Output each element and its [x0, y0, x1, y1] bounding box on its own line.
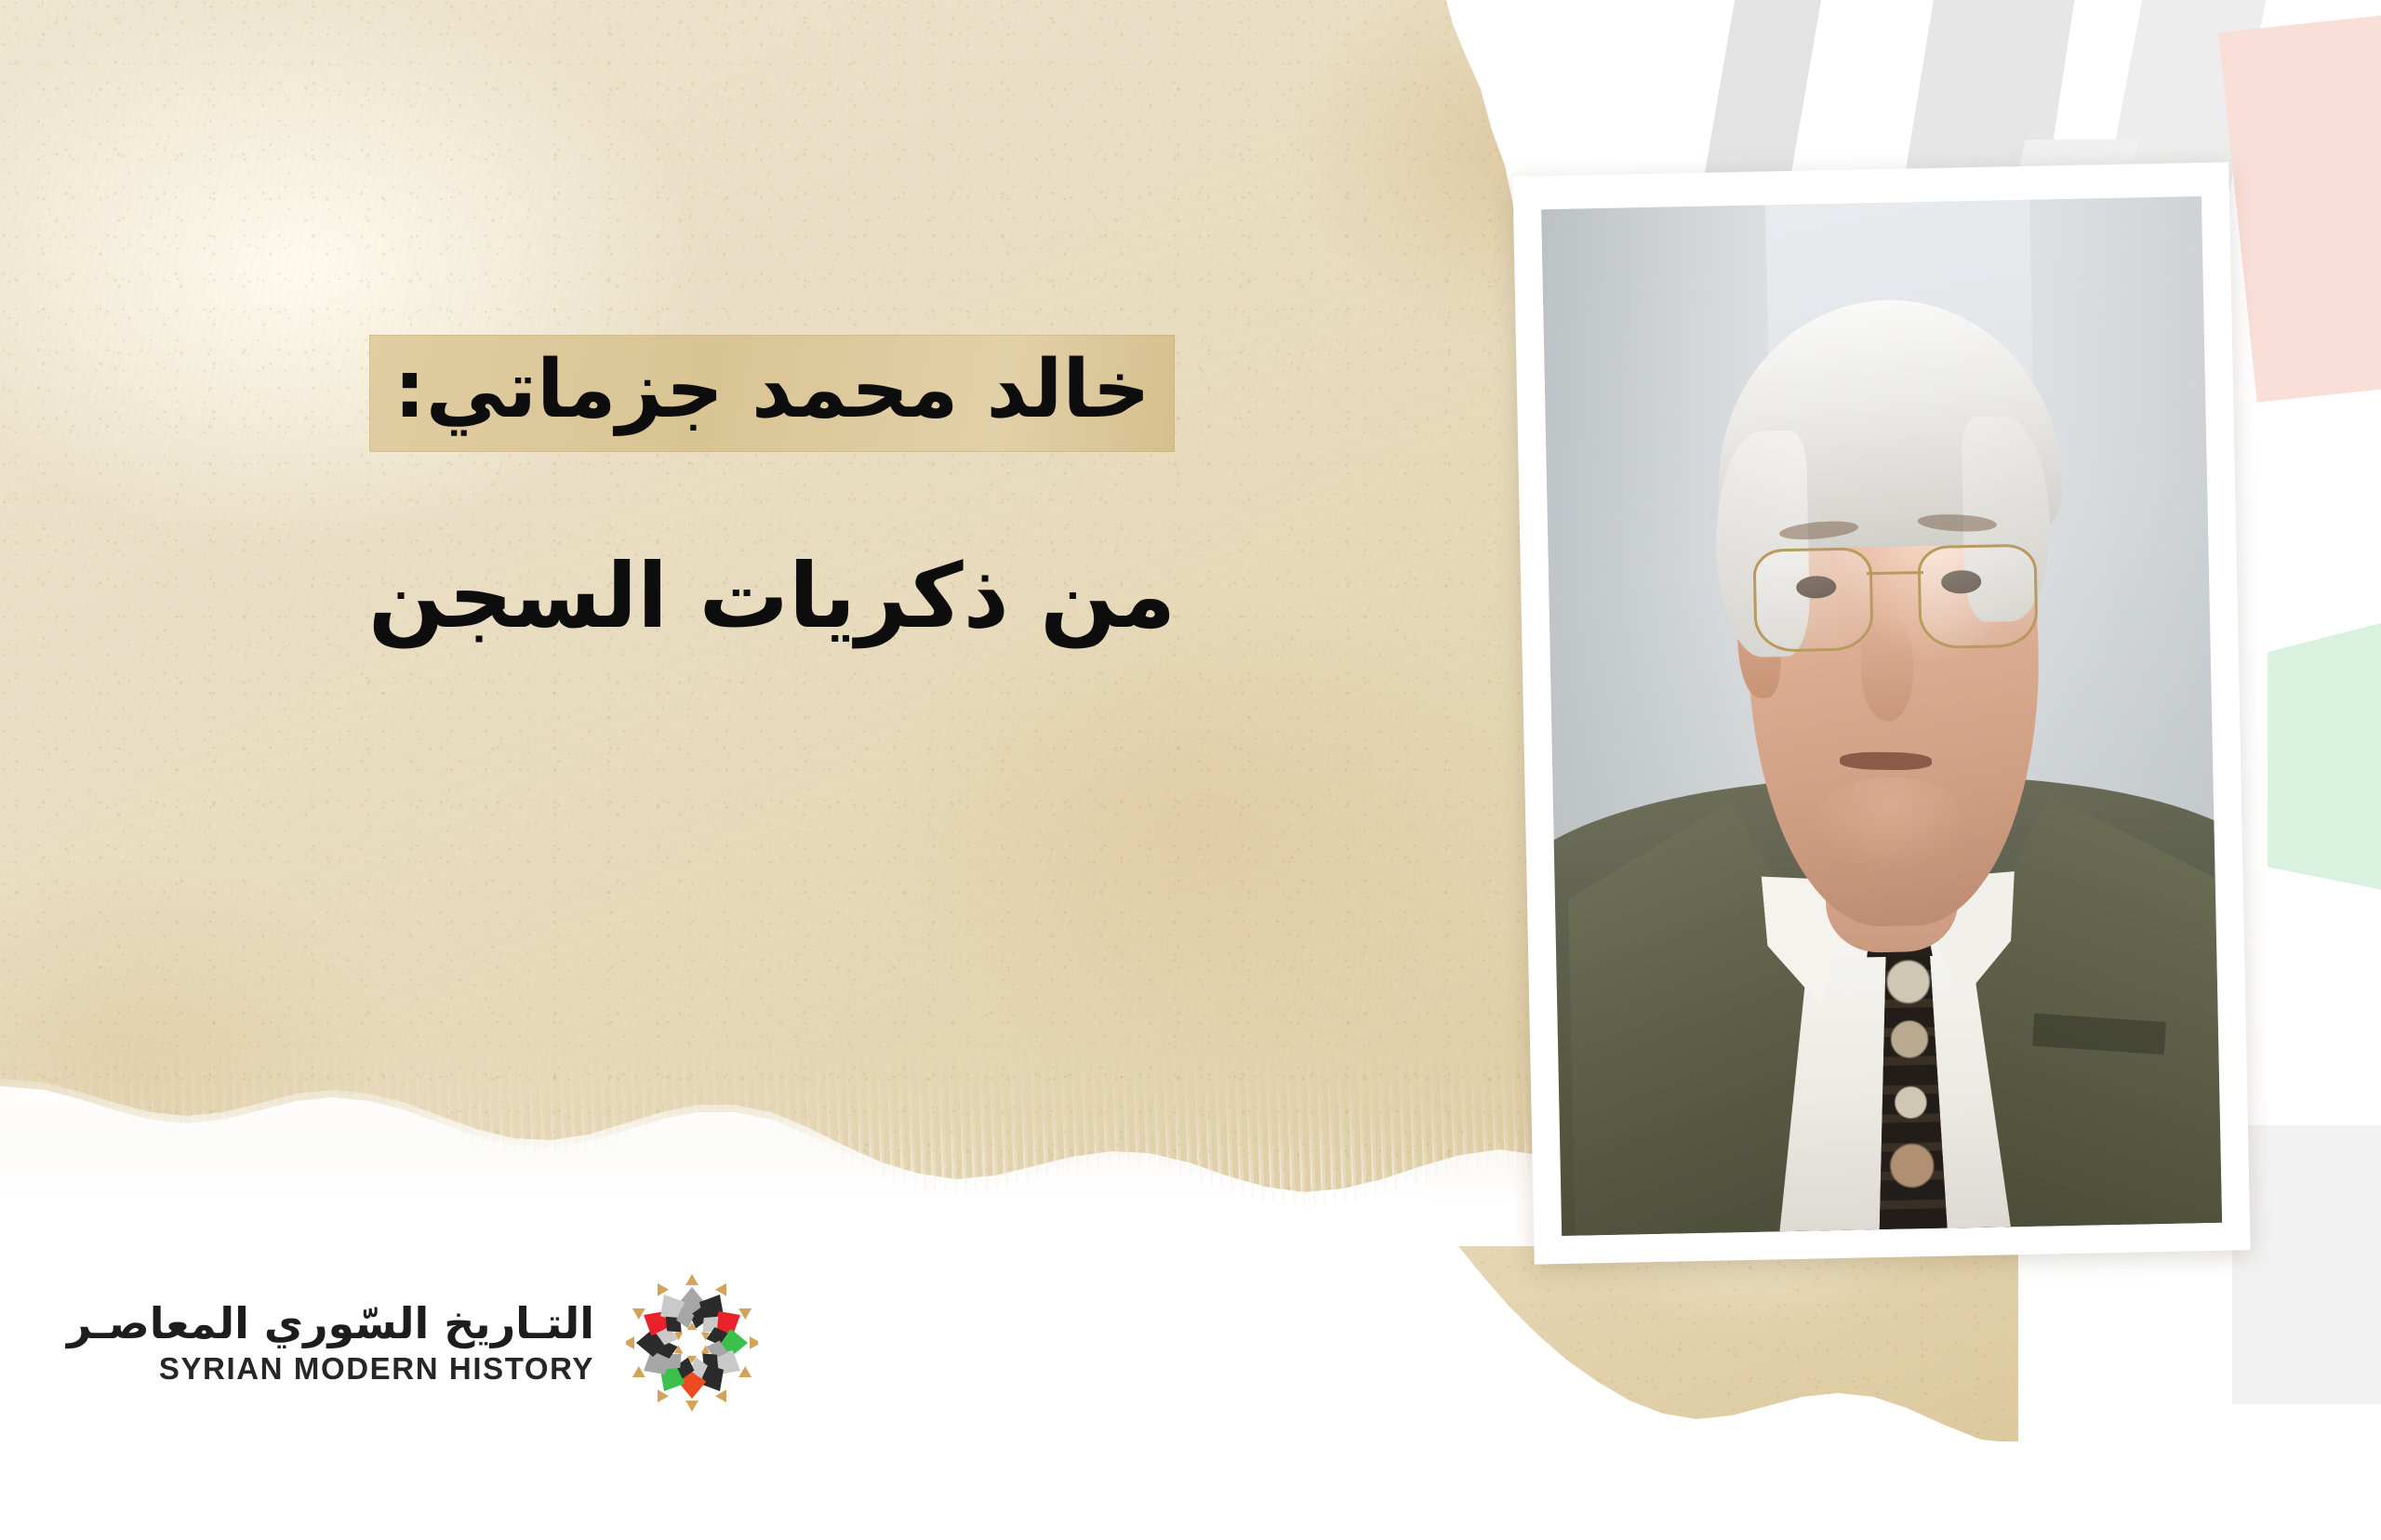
page-title: من ذكريات السجن [307, 549, 1237, 645]
portrait-photo [1541, 196, 2222, 1236]
eyeglasses-lens-left [1753, 547, 1874, 652]
portrait-frame [1512, 162, 2250, 1264]
brand-lockup[interactable]: التـاريخ السّوري المعاصـر SYRIAN MODERN … [67, 1268, 758, 1417]
eyeglasses-bridge [1867, 571, 1923, 575]
subject-name-highlight: خالد محمد جزماتي: [369, 335, 1174, 452]
brand-name-english: SYRIAN MODERN HISTORY [159, 1352, 594, 1386]
poster-canvas: خالد محمد جزماتي: من ذكريات السجن [0, 0, 2381, 1540]
brand-name-arabic: التـاريخ السّوري المعاصـر [67, 1300, 594, 1347]
headline-block: خالد محمد جزماتي: من ذكريات السجن [307, 335, 1237, 645]
photo-nose [1860, 617, 1915, 722]
photo-mouth [1840, 751, 1933, 770]
decor-gray-block [2232, 1125, 2381, 1404]
decor-pink-rectangle [2218, 9, 2381, 403]
rosette-logo-icon [626, 1268, 758, 1417]
brand-wordmark: التـاريخ السّوري المعاصـر SYRIAN MODERN … [67, 1300, 594, 1387]
eyeglasses-lens-right [1918, 543, 2039, 648]
decor-green-shape [2268, 595, 2381, 911]
